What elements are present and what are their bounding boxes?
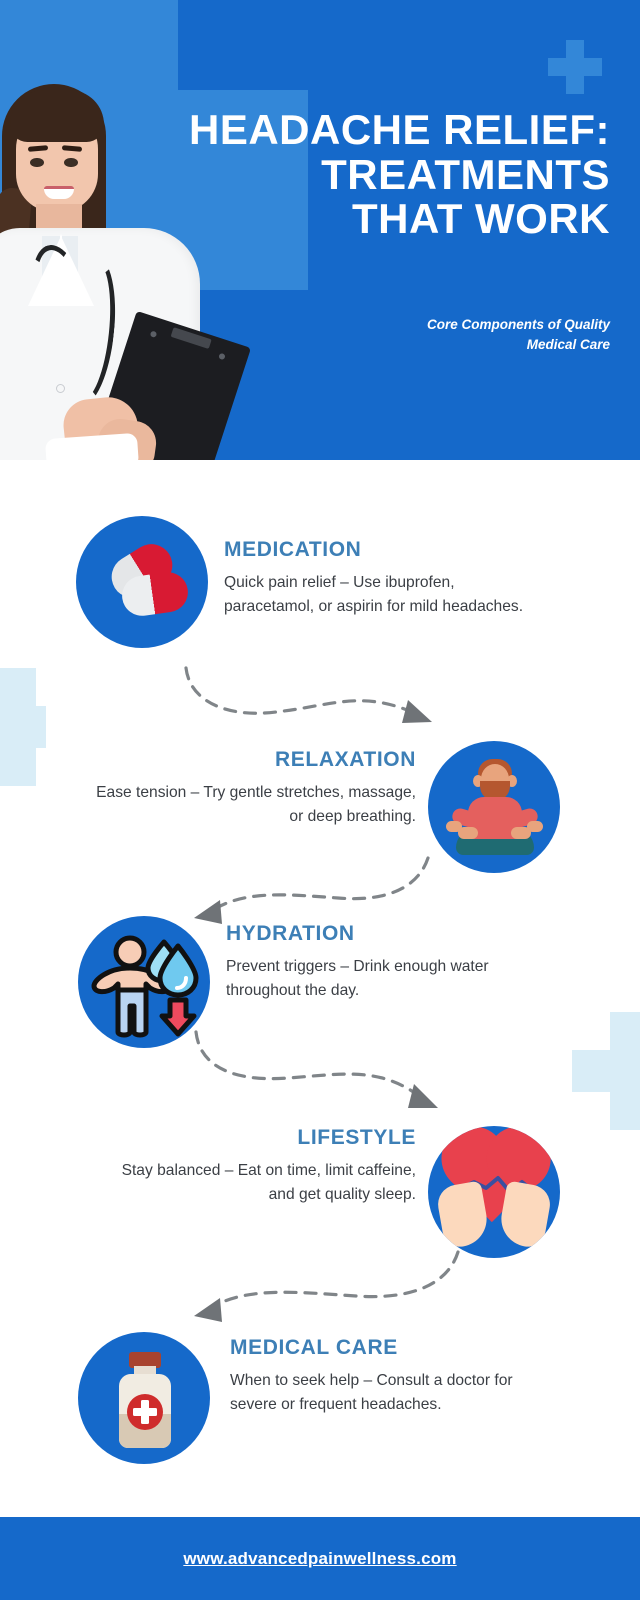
step-text-medical-care: MEDICAL CARE When to seek help – Consult… <box>230 1336 550 1418</box>
step-text-relaxation: RELAXATION Ease tension – Try gentle str… <box>96 748 416 830</box>
page-title-line-1: HEADACHE RELIEF: <box>140 108 610 153</box>
deco-cross-right <box>572 1012 640 1130</box>
step-icon-relaxation <box>428 741 560 873</box>
step-desc-relaxation: Ease tension – Try gentle stretches, mas… <box>96 781 416 830</box>
arrow-lifestyle-to-medical-care <box>180 1238 470 1328</box>
step-desc-hydration: Prevent triggers – Drink enough water th… <box>226 955 546 1004</box>
step-desc-medical-care: When to seek help – Consult a doctor for… <box>230 1369 550 1418</box>
infographic-poster: HEADACHE RELIEF: TREATMENTS THAT WORK Co… <box>0 0 640 1600</box>
medical-cross-icon <box>548 40 602 94</box>
page-title-line-3: THAT WORK <box>140 197 610 242</box>
step-title-medical-care: MEDICAL CARE <box>230 1336 550 1360</box>
deco-cross-left <box>0 668 46 786</box>
step-title-medication: MEDICATION <box>224 538 544 562</box>
arrow-relaxation-to-hydration <box>180 840 440 930</box>
step-text-lifestyle: LIFESTYLE Stay balanced – Eat on time, l… <box>96 1126 416 1208</box>
step-text-medication: MEDICATION Quick pain relief – Use ibupr… <box>224 538 544 620</box>
medicine-bottle-icon <box>78 1332 210 1464</box>
step-desc-lifestyle: Stay balanced – Eat on time, limit caffe… <box>96 1159 416 1208</box>
step-title-hydration: HYDRATION <box>226 922 546 946</box>
page-title: HEADACHE RELIEF: TREATMENTS THAT WORK <box>140 108 610 242</box>
arrow-medication-to-relaxation <box>180 660 450 740</box>
step-desc-medication: Quick pain relief – Use ibuprofen, parac… <box>224 571 544 620</box>
pills-icon <box>76 516 208 648</box>
footer-bar: www.advancedpainwellness.com <box>0 1517 640 1600</box>
step-icon-medical-care <box>78 1332 210 1464</box>
header-banner: HEADACHE RELIEF: TREATMENTS THAT WORK Co… <box>0 0 640 460</box>
page-subtitle-line-1: Core Components of Quality <box>300 315 610 335</box>
page-title-line-2: TREATMENTS <box>140 153 610 198</box>
header-accent-rect <box>178 0 308 90</box>
step-text-hydration: HYDRATION Prevent triggers – Drink enoug… <box>226 922 546 1004</box>
page-subtitle: Core Components of Quality Medical Care <box>300 315 610 354</box>
step-title-lifestyle: LIFESTYLE <box>96 1126 416 1150</box>
footer-website-link[interactable]: www.advancedpainwellness.com <box>183 1549 456 1569</box>
step-title-relaxation: RELAXATION <box>96 748 416 772</box>
arrow-hydration-to-lifestyle <box>188 1022 448 1122</box>
meditating-person-icon <box>428 741 560 873</box>
page-subtitle-line-2: Medical Care <box>300 335 610 355</box>
step-icon-medication <box>76 516 208 648</box>
